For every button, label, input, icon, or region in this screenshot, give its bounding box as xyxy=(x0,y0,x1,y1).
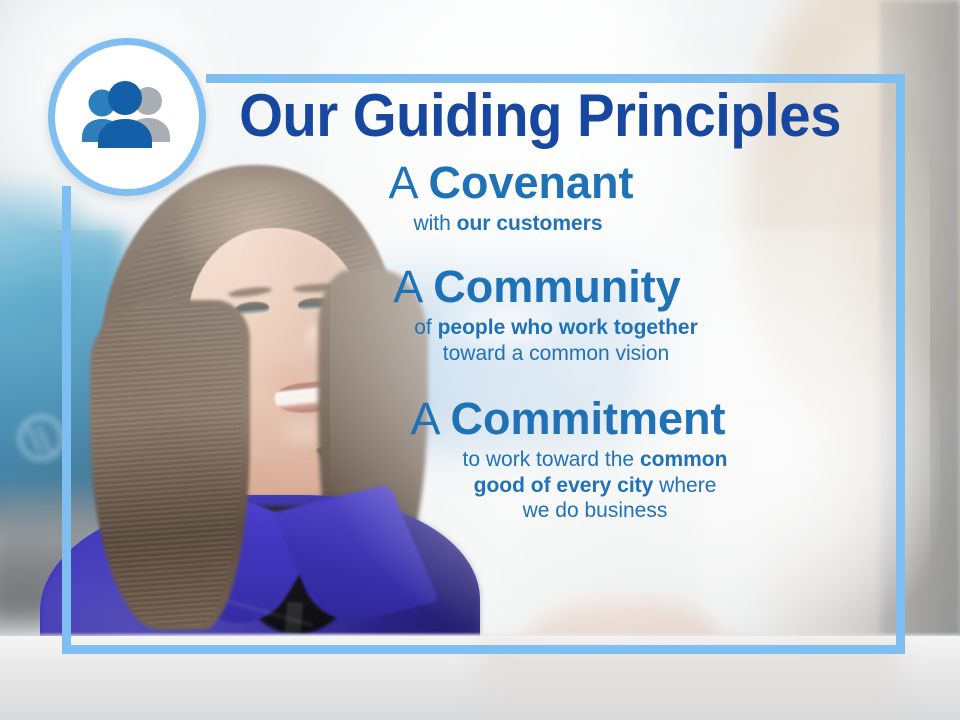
principle-1-subtext: with our customers xyxy=(180,211,842,237)
principle-2-subtext: of people who work togethertoward a comm… xyxy=(180,315,894,366)
principle-commitment: A Commitment to work toward the commongo… xyxy=(180,396,900,524)
principle-community: A Community of people who work togethert… xyxy=(180,264,900,366)
principle-3-subtext: to work toward the commongood of every c… xyxy=(236,447,900,524)
principle-3-heading: A Commitment xyxy=(236,396,900,443)
vw-logo-blurred-icon xyxy=(18,415,64,461)
principles-copy-block: Our Guiding Principles A Covenant with o… xyxy=(180,86,900,524)
poster-canvas: FLOW FLOW xyxy=(0,0,960,720)
principle-2-heading: A Community xyxy=(180,264,894,311)
principle-covenant: A Covenant with our customers xyxy=(180,160,900,236)
page-title: Our Guiding Principles xyxy=(202,86,879,146)
principle-1-heading: A Covenant xyxy=(180,160,842,207)
people-group-icon xyxy=(75,80,179,154)
desk-reflection xyxy=(480,645,900,720)
